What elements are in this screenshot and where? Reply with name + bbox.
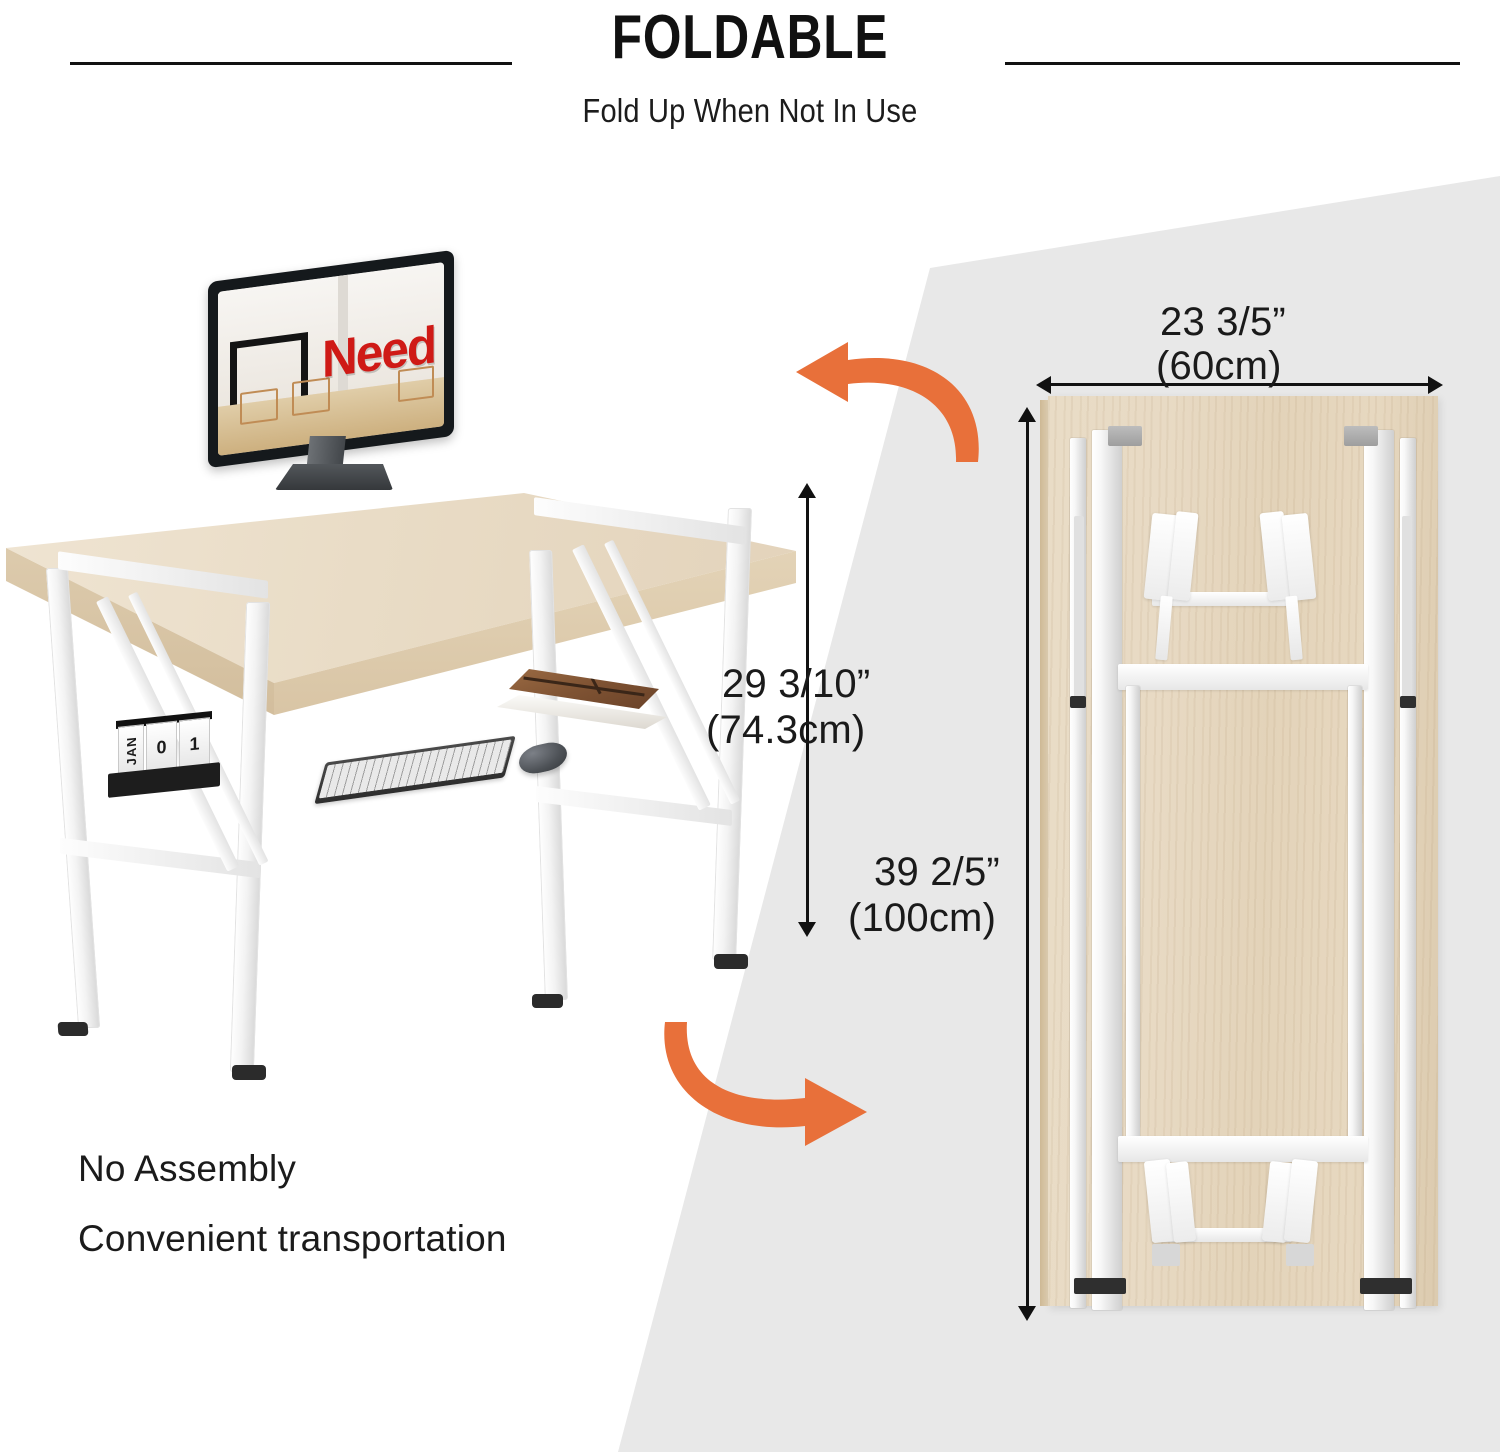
desk-calendar: JAN 0 1: [108, 716, 220, 796]
fold-down-arrow-bottom: [655, 1020, 875, 1150]
calendar-day-tens-card: 0: [146, 721, 177, 774]
folded-crossbar-upper: [1118, 664, 1368, 690]
height-dim-arrowhead-bottom: [798, 922, 816, 937]
calendar-day-ones-card: 1: [179, 717, 210, 770]
folded-hinge-left: [1070, 696, 1086, 708]
folded-foot-left: [1074, 1278, 1126, 1294]
page-subtitle: Fold Up When Not In Use: [90, 92, 1410, 130]
folded-cap-right-top: [1344, 426, 1378, 446]
length-dim-arrowhead-top: [1018, 407, 1036, 422]
folded-crossbar-lower: [1118, 1136, 1368, 1162]
calendar-month-text: JAN: [124, 735, 139, 766]
folded-length-metric: (100cm): [848, 894, 996, 943]
fold-up-arrow-top: [790, 330, 990, 465]
desk-foot-front-left: [232, 1065, 266, 1080]
folded-length-imperial: 39 2/5”: [874, 848, 1000, 897]
folded-post-right-inner: [1364, 430, 1394, 1310]
folded-foot-right: [1360, 1278, 1412, 1294]
width-dim-arrowhead-right: [1428, 376, 1443, 394]
open-desk-illustration: Need JAN 0 1: [0, 250, 800, 1150]
desk-foot-back-right: [532, 994, 563, 1008]
folded-slot-right: [1402, 516, 1412, 706]
page-title: FOLDABLE: [150, 2, 1350, 73]
monitor: Need: [200, 250, 465, 500]
length-dim-line: [1026, 420, 1029, 1308]
feature-list: No Assembly Convenient transportation: [78, 1148, 698, 1288]
header: FOLDABLE Fold Up When Not In Use: [0, 0, 1500, 160]
folded-rail-left-long: [1126, 686, 1140, 1146]
desk-leg-back-left: [46, 568, 100, 1028]
folded-strut-upper-right: [1285, 596, 1303, 661]
folded-width-imperial: 23 3/5”: [1160, 298, 1286, 347]
keyboard-keys: [319, 739, 512, 798]
book-stack: [497, 665, 677, 745]
desk-foot-back-left: [58, 1022, 89, 1036]
desk-foot-front-right: [714, 954, 748, 969]
width-dim-arrowhead-left: [1036, 376, 1051, 394]
journal-strap-a: [523, 677, 644, 697]
keyboard: [314, 736, 515, 804]
monitor-screen: Need: [218, 262, 444, 456]
folded-clip-lower-right: [1286, 1244, 1314, 1266]
calendar-month-card: JAN: [118, 724, 144, 777]
desk-height-metric: (74.3cm): [706, 706, 865, 755]
length-dim-arrowhead-bottom: [1018, 1306, 1036, 1321]
folded-hinge-right: [1400, 696, 1416, 708]
feature-item-no-assembly: No Assembly: [78, 1148, 698, 1190]
monitor-base: [275, 464, 393, 490]
desk-height-imperial: 29 3/10”: [722, 660, 870, 709]
feature-item-transportation: Convenient transportation: [78, 1218, 698, 1260]
folded-rail-right-long: [1348, 686, 1362, 1146]
folded-desk-board: [1048, 396, 1438, 1306]
folded-slot-left: [1074, 516, 1084, 706]
folded-width-metric: (60cm): [1156, 342, 1282, 391]
height-dim-arrowhead-top: [798, 483, 816, 498]
folded-cap-left-top: [1108, 426, 1142, 446]
folded-clip-lower-left: [1152, 1244, 1180, 1266]
folded-post-left-inner: [1092, 430, 1122, 1310]
